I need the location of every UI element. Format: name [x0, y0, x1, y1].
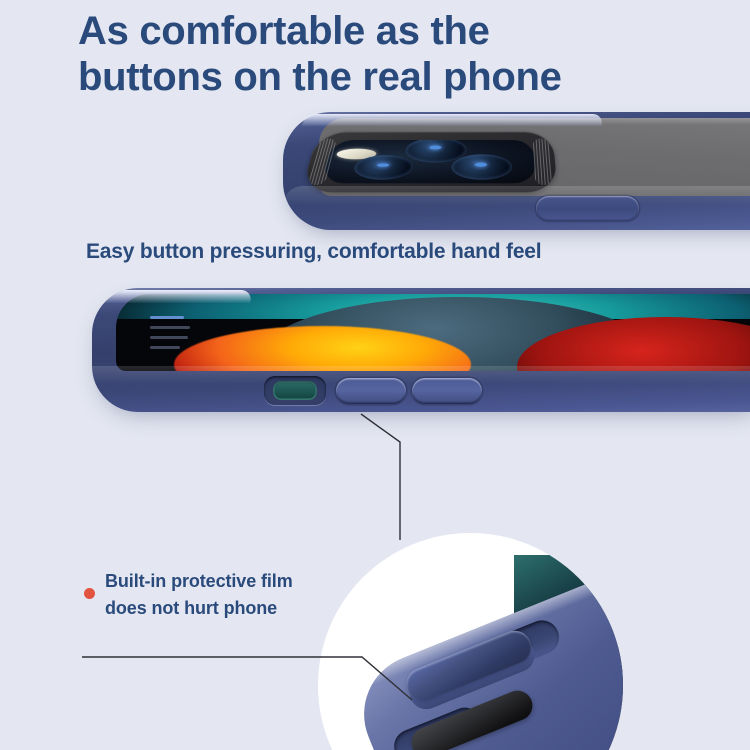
widget-line-2	[150, 326, 190, 329]
caption-lower-line-2: does not hurt phone	[105, 595, 293, 622]
port-cutout	[264, 376, 326, 405]
leader-line-button	[361, 414, 400, 540]
button-cross-section-zoom	[318, 533, 623, 750]
caption-lower-line-1: Built-in protective film	[105, 568, 293, 595]
case-body-navy	[283, 112, 750, 230]
case-body-navy-side	[92, 288, 750, 412]
page-title: As comfortable as the buttons on the rea…	[78, 8, 698, 101]
phone-case-back-view	[283, 112, 750, 230]
camera-trim-right	[533, 139, 552, 186]
widget-line-3	[150, 336, 188, 339]
volume-up-button	[336, 378, 406, 404]
case-lip-highlight-side	[100, 290, 254, 303]
case-sheen	[283, 186, 750, 206]
headline-line-1: As comfortable as the	[78, 8, 698, 54]
bullet-dot-icon	[84, 588, 95, 599]
camera-module	[300, 132, 558, 193]
widget-line-1	[150, 316, 184, 319]
side-button-top-phone	[536, 196, 639, 221]
caption-middle: Easy button pressuring, comfortable hand…	[86, 240, 541, 264]
lockscreen-widgets	[150, 316, 196, 356]
headline-line-2: buttons on the real phone	[78, 54, 698, 100]
phone-case-side-view	[92, 288, 750, 412]
port-inner-teal	[273, 381, 317, 400]
camera-lens-right	[450, 154, 512, 180]
caption-lower: Built-in protective film does not hurt p…	[105, 568, 293, 622]
case-lip-highlight	[302, 114, 605, 126]
product-feature-image: As comfortable as the buttons on the rea…	[0, 0, 750, 750]
camera-glass	[321, 140, 537, 183]
volume-down-button	[412, 378, 482, 404]
widget-line-4	[150, 346, 180, 349]
phone-screen	[116, 294, 750, 371]
